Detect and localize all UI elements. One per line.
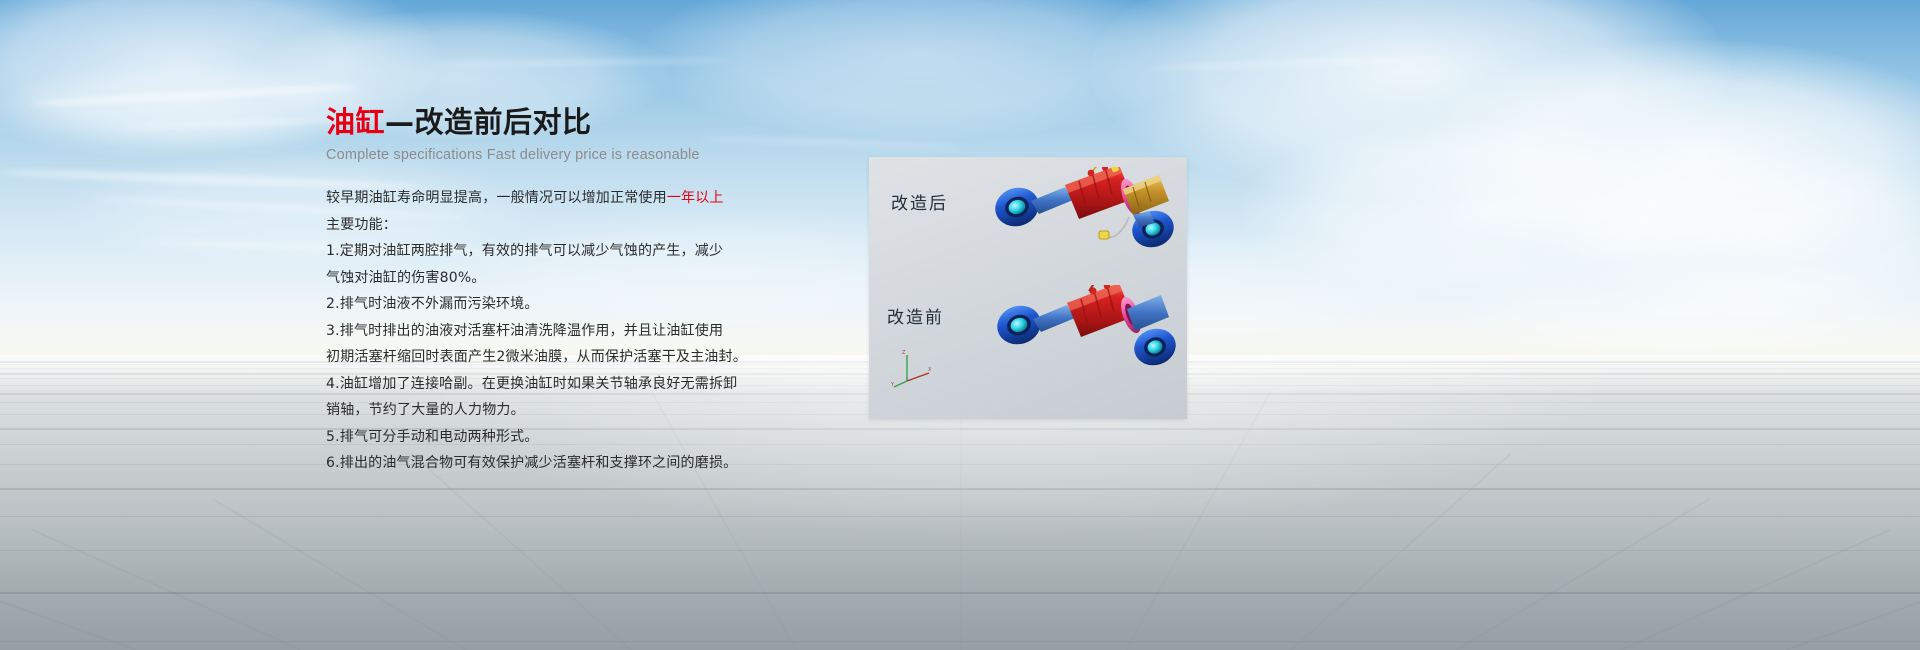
cloud-streak xyxy=(430,57,730,67)
description-line-text: 2.排气时油液不外漏而污染环境。 xyxy=(326,296,539,312)
coordinate-axis-icon: Z X Y xyxy=(891,349,933,389)
comparison-image-panel: 改造后 改造前 xyxy=(869,157,1187,419)
svg-text:Z: Z xyxy=(902,350,906,356)
description-line-text: 较早期油缸寿命明显提高，一般情况可以增加正常使用 xyxy=(326,190,667,206)
description-line: 5.排气可分手动和电动两种形式。 xyxy=(326,424,756,451)
description-line-text: 3.排气时排出的油液对活塞杆油清洗降温作用，并且让油缸使用 xyxy=(326,323,723,339)
description-line-text: 5.排气可分手动和电动两种形式。 xyxy=(326,429,539,445)
cloud-shape xyxy=(1450,255,1920,365)
description-line-text: 1.定期对油缸两腔排气，有效的排气可以减少气蚀的产生，减少 xyxy=(326,243,723,259)
svg-text:X: X xyxy=(928,367,932,373)
label-after-modification: 改造后 xyxy=(891,189,948,214)
description-line-text: 主要功能： xyxy=(326,217,397,233)
description-line-text: 初期活塞杆缩回时表面产生2微米油膜，从而保护活塞干及主油封。 xyxy=(326,349,747,365)
promo-banner: 油缸—改造前后对比 Complete specifications Fast d… xyxy=(0,0,1920,650)
description-line-text: 气蚀对油缸的伤害80%。 xyxy=(326,270,486,286)
description-line-text: 6.排出的油气混合物可有效保护减少活塞杆和支撑环之间的磨损。 xyxy=(326,455,737,471)
title-rest: —改造前后对比 xyxy=(385,105,592,139)
description-line-text: 销轴，节约了大量的人力物力。 xyxy=(326,402,525,418)
cloud-streak xyxy=(1150,55,1450,71)
description-line: 初期活塞杆缩回时表面产生2微米油膜，从而保护活塞干及主油封。 xyxy=(326,344,756,371)
description-line: 主要功能： xyxy=(326,212,756,239)
banner-text-block: 油缸—改造前后对比 Complete specifications Fast d… xyxy=(326,104,756,477)
cloud-shape xyxy=(1240,120,1740,300)
cloud-streak xyxy=(30,83,360,107)
description-line: 6.排出的油气混合物可有效保护减少活塞杆和支撑环之间的磨损。 xyxy=(326,450,756,477)
description-line: 气蚀对油缸的伤害80%。 xyxy=(326,265,756,292)
description-line-text: 4.油缸增加了连接哈副。在更换油缸时如果关节轴承良好无需拆卸 xyxy=(326,376,737,392)
title-highlight: 油缸 xyxy=(326,105,385,139)
description-line: 销轴，节约了大量的人力物力。 xyxy=(326,397,756,424)
description-line: 较早期油缸寿命明显提高，一般情况可以增加正常使用一年以上 xyxy=(326,185,756,212)
description-line: 4.油缸增加了连接哈副。在更换油缸时如果关节轴承良好无需拆卸 xyxy=(326,371,756,398)
description-line: 3.排气时排出的油液对活塞杆油清洗降温作用，并且让油缸使用 xyxy=(326,318,756,345)
cloud-shape xyxy=(1560,150,1920,320)
page-title: 油缸—改造前后对比 xyxy=(326,104,756,140)
cloud-shape xyxy=(0,60,380,150)
cylinder-diagram-before xyxy=(977,285,1181,393)
cloud-shape xyxy=(1420,40,1920,270)
description-line-highlight: 一年以上 xyxy=(667,190,724,206)
feature-description-list: 较早期油缸寿命明显提高，一般情况可以增加正常使用一年以上主要功能：1.定期对油缸… xyxy=(326,185,756,477)
cylinder-diagram-after xyxy=(973,167,1179,277)
page-subtitle: Complete specifications Fast delivery pr… xyxy=(326,147,756,163)
description-line: 1.定期对油缸两腔排气，有效的排气可以减少气蚀的产生，减少 xyxy=(326,238,756,265)
label-before-modification: 改造前 xyxy=(887,303,944,328)
description-line: 2.排气时油液不外漏而污染环境。 xyxy=(326,291,756,318)
